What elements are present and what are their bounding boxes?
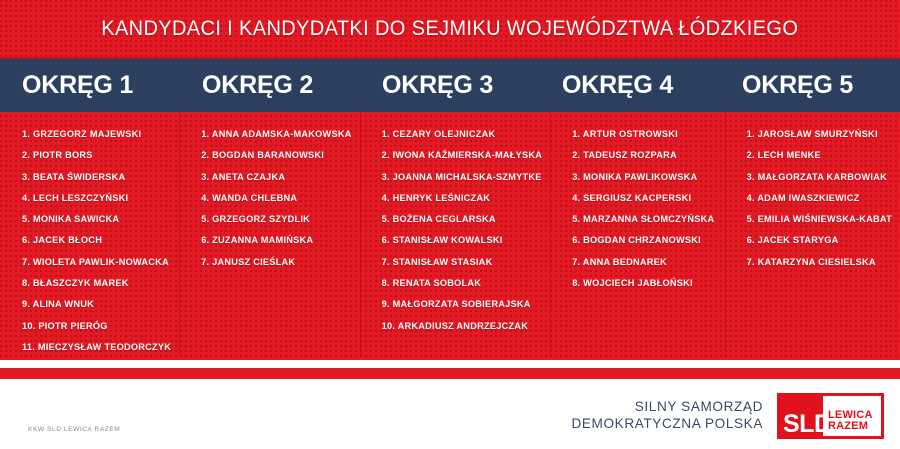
list-item: 6. BOGDAN CHRZANOWSKI: [572, 236, 716, 245]
list-item: 8. BŁASZCZYK MAREK: [22, 279, 171, 288]
list-item: 1. CEZARY OLEJNICZAK: [382, 130, 543, 139]
candidate-list-district-1: 1. GRZEGORZ MAJEWSKI 2. PIOTR BORS 3. BE…: [0, 112, 179, 360]
district-header-4: OKRĘG 4: [540, 59, 720, 112]
list-item: 9. ALINA WNUK: [22, 300, 171, 309]
list-item: 3. JOANNA MICHALSKA-SZMYTKE: [382, 173, 543, 182]
slogan-line-1: SILNY SAMORZĄD: [571, 399, 763, 416]
list-item: 7. STANISŁAW STASIAK: [382, 258, 543, 267]
list-item: 1. ARTUR OSTROWSKI: [572, 130, 716, 139]
list-item: 8. WOJCIECH JABŁOŃSKI: [572, 279, 716, 288]
list-item: 11. MIECZYSŁAW TEODORCZYK: [22, 343, 171, 352]
list-item: 7. ANNA BEDNAREK: [572, 258, 716, 267]
sld-logo: SLD LEWICA RAZEM: [777, 393, 884, 439]
list-item: 6. JACEK STARYGA: [747, 236, 892, 245]
page-title: KANDYDACI I KANDYDATKI DO SEJMIKU WOJEWÓ…: [101, 16, 798, 41]
district-heading-label: OKRĘG 4: [562, 71, 673, 100]
list-item: 7. WIOLETA PAWLIK-NOWACKA: [22, 258, 171, 267]
poster-title-bar: KANDYDACI I KANDYDATKI DO SEJMIKU WOJEWÓ…: [0, 0, 900, 57]
list-item: 6. JACEK BŁOCH: [22, 236, 171, 245]
district-header-1: OKRĘG 1: [0, 59, 180, 112]
poster-footer: KKW SLD LEWICA RAZEM SILNY SAMORZĄD DEMO…: [0, 379, 900, 449]
list-item: 6. ZUZANNA MAMIŃSKA: [201, 236, 351, 245]
list-item: 5. EMILIA WIŚNIEWSKA-KABAT: [747, 215, 892, 224]
list-item: 4. WANDA CHLEBNA: [201, 194, 351, 203]
district-header-2: OKRĘG 2: [180, 59, 360, 112]
candidate-list-district-5: 1. JAROSŁAW SMURZYŃSKI 2. LECH MENKE 3. …: [725, 112, 900, 360]
slogan-line-2: DEMOKRATYCZNA POLSKA: [571, 416, 763, 433]
candidate-list-district-2: 1. ANNA ADAMSKA-MAKOWSKA 2. BOGDAN BARAN…: [179, 112, 359, 360]
list-item: 2. BOGDAN BARANOWSKI: [201, 151, 351, 160]
list-item: 1. ANNA ADAMSKA-MAKOWSKA: [201, 130, 351, 139]
campaign-slogan: SILNY SAMORZĄD DEMOKRATYCZNA POLSKA: [571, 399, 763, 432]
list-item: 2. PIOTR BORS: [22, 151, 171, 160]
campaign-poster: KANDYDACI I KANDYDATKI DO SEJMIKU WOJEWÓ…: [0, 0, 900, 449]
list-item: 2. IWONA KAŹMIERSKA-MAŁYSKA: [382, 151, 543, 160]
list-item: 3. MONIKA PAWLIKOWSKA: [572, 173, 716, 182]
list-item: 4. LECH LESZCZYŃSKI: [22, 194, 171, 203]
district-heading-label: OKRĘG 3: [382, 71, 493, 100]
district-heading-label: OKRĘG 5: [742, 71, 853, 100]
list-item: 2. TADEUSZ ROZPARA: [572, 151, 716, 160]
district-header-3: OKRĘG 3: [360, 59, 540, 112]
committee-note: KKW SLD LEWICA RAZEM: [28, 426, 120, 433]
footer-branding: SILNY SAMORZĄD DEMOKRATYCZNA POLSKA SLD …: [571, 393, 884, 439]
district-heading-label: OKRĘG 1: [22, 71, 133, 100]
lewica-razem-badge: LEWICA RAZEM: [823, 396, 881, 436]
list-item: 5. MARZANNA SŁOMCZYŃSKA: [572, 215, 716, 224]
list-item: 8. RENATA SOBOLAK: [382, 279, 543, 288]
list-item: 7. KATARZYNA CIESIELSKA: [747, 258, 892, 267]
list-item: 3. BEATA ŚWIDERSKA: [22, 173, 171, 182]
list-item: 4. HENRYK LEŚNICZAK: [382, 194, 543, 203]
list-item: 3. MAŁGORZATA KARBOWIAK: [747, 173, 892, 182]
candidate-list-district-3: 1. CEZARY OLEJNICZAK 2. IWONA KAŹMIERSKA…: [360, 112, 551, 360]
list-item: 4. SERGIUSZ KACPERSKI: [572, 194, 716, 203]
list-item: 5. GRZEGORZ SZYDLIK: [201, 215, 351, 224]
list-item: 6. STANISŁAW KOWALSKI: [382, 236, 543, 245]
list-item: 9. MAŁGORZATA SOBIERAJSKA: [382, 300, 543, 309]
district-header-5: OKRĘG 5: [720, 59, 900, 112]
list-item: 4. ADAM IWASZKIEWICZ: [747, 194, 892, 203]
list-item: 1. GRZEGORZ MAJEWSKI: [22, 130, 171, 139]
list-item: 5. MONIKA SAWICKA: [22, 215, 171, 224]
list-item: 3. ANETA CZAJKA: [201, 173, 351, 182]
district-heading-band: OKRĘG 1 OKRĘG 2 OKRĘG 3 OKRĘG 4 OKRĘG 5: [0, 57, 900, 112]
list-item: 2. LECH MENKE: [747, 151, 892, 160]
badge-line-2: RAZEM: [828, 421, 868, 433]
candidate-list-district-4: 1. ARTUR OSTROWSKI 2. TADEUSZ ROZPARA 3.…: [550, 112, 724, 360]
list-item: 10. PIOTR PIERÓG: [22, 322, 171, 331]
list-item: 7. JANUSZ CIEŚLAK: [201, 258, 351, 267]
list-item: 5. BOŻENA CEGLARSKA: [382, 215, 543, 224]
district-heading-label: OKRĘG 2: [202, 71, 313, 100]
list-item: 1. JAROSŁAW SMURZYŃSKI: [747, 130, 892, 139]
list-item: 10. ARKADIUSZ ANDRZEJCZAK: [382, 322, 543, 331]
white-separator-gap: [0, 360, 900, 368]
red-divider-bar: [0, 368, 900, 379]
candidate-columns: 1. GRZEGORZ MAJEWSKI 2. PIOTR BORS 3. BE…: [0, 112, 900, 360]
